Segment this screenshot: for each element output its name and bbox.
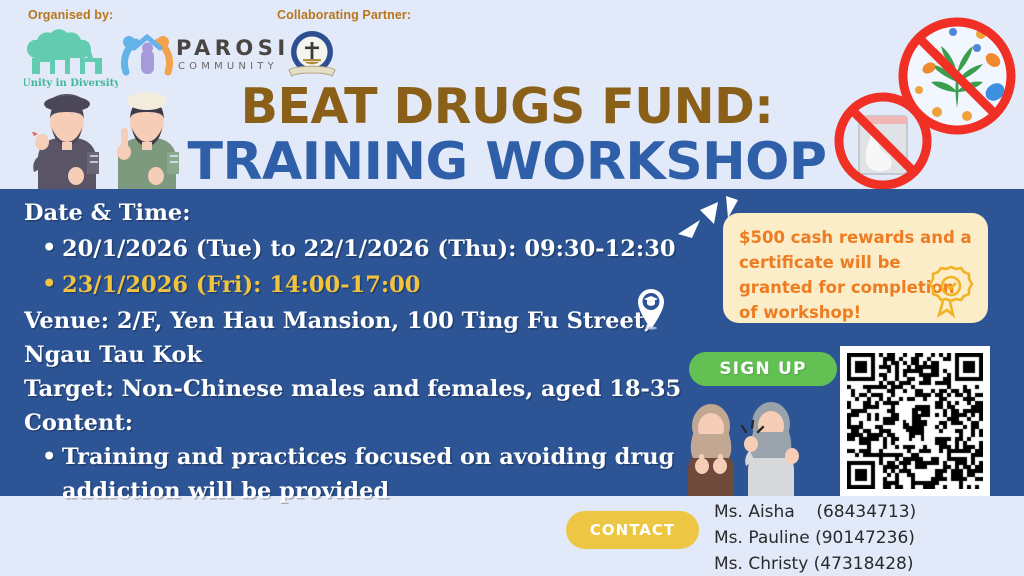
two-men-illustration [18, 86, 204, 192]
venue-line: Venue: 2/F, Yen Hau Mansion, 100 Ting Fu… [24, 304, 684, 372]
no-drugs-bag-icon [832, 90, 934, 192]
location-pin-graduation-icon [636, 288, 666, 330]
details-text: Date & Time: 20/1/2026 (Tue) to 22/1/202… [24, 196, 684, 508]
unity-in-diversity-logo: Unity in Diversity [24, 24, 118, 90]
contact-list: Ms. Aisha (68434713) Ms. Pauline (901472… [714, 499, 916, 576]
collaborating-partner-seal [283, 26, 341, 84]
content-label: Content: [24, 406, 684, 440]
parosi-community-logo: PAROSI COMMUNITY [118, 28, 266, 84]
contact-button[interactable]: CONTACT [566, 511, 699, 549]
target-line: Target: Non-Chinese males and females, a… [24, 372, 684, 406]
collaborating-partner-label: Collaborating Partner: [277, 8, 411, 22]
two-women-illustration [672, 392, 800, 496]
contact-person: Ms. Christy (47318428) [714, 551, 916, 576]
certificate-medal-icon [924, 261, 978, 319]
contact-person: Ms. Pauline (90147236) [714, 525, 916, 551]
parosi-subtext: COMMUNITY [178, 61, 278, 72]
sign-up-button[interactable]: SIGN UP [689, 352, 837, 386]
organised-by-label: Organised by: [28, 8, 113, 22]
parosi-wordmark: PAROSI [176, 36, 290, 60]
poster: Organised by: Collaborating Partner: Uni… [0, 0, 1024, 576]
date-item: 20/1/2026 (Tue) to 22/1/2026 (Thu): 09:3… [62, 232, 684, 266]
content-item: Training and practices focused on avoidi… [24, 440, 684, 508]
date-time-label: Date & Time: [24, 196, 684, 230]
qr-code[interactable] [840, 346, 990, 496]
contact-person: Ms. Aisha (68434713) [714, 499, 916, 525]
date-list: 20/1/2026 (Tue) to 22/1/2026 (Thu): 09:3… [24, 232, 684, 302]
reward-callout: $500 cash rewards and a certificate will… [723, 213, 988, 323]
date-item: 23/1/2026 (Fri): 14:00-17:00 [62, 268, 684, 302]
